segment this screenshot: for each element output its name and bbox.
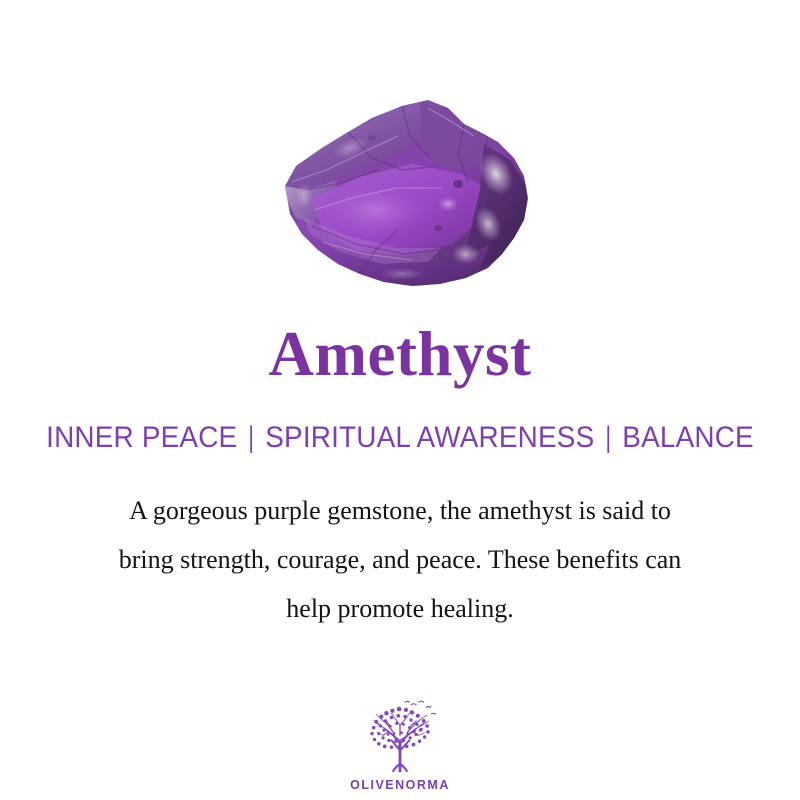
tree-logo-icon <box>357 698 443 776</box>
description-line: A gorgeous purple gemstone, the amethyst… <box>40 486 760 535</box>
amethyst-info-card: Amethyst INNER PEACE | SPIRITUAL AWARENE… <box>0 0 800 800</box>
brand-lockup: OLIVENORMA <box>0 698 800 792</box>
brand-name: OLIVENORMA <box>350 778 450 792</box>
description-line: bring strength, courage, and peace. Thes… <box>40 535 760 584</box>
keyword-subtitle: INNER PEACE | SPIRITUAL AWARENESS | BALA… <box>28 412 772 464</box>
description-paragraph: A gorgeous purple gemstone, the amethyst… <box>40 486 760 633</box>
keyword-inner-peace: INNER PEACE <box>46 421 237 455</box>
keyword-balance: BALANCE <box>622 421 754 455</box>
hero-image-area <box>0 0 800 318</box>
keyword-spiritual-awareness: SPIRITUAL AWARENESS <box>265 421 594 455</box>
amethyst-stone-image <box>252 78 552 296</box>
description-line: help promote healing. <box>40 584 760 633</box>
amethyst-crystal-icon <box>252 78 552 296</box>
keyword-separator: | <box>597 421 619 455</box>
page-title: Amethyst <box>0 318 800 390</box>
keyword-separator: | <box>240 421 262 455</box>
